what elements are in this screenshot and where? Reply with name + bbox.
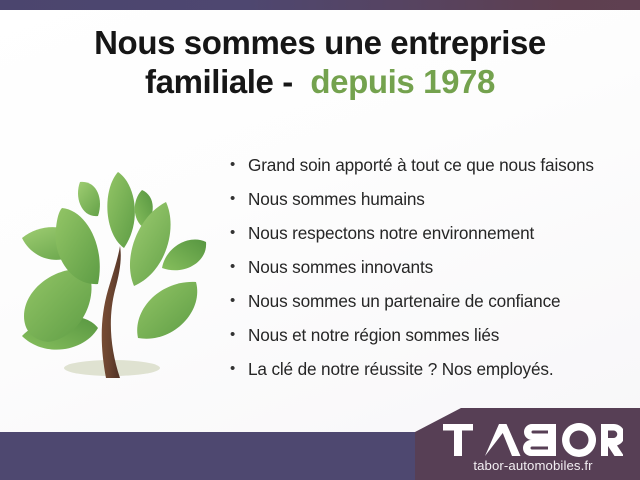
leaf-center-top [107,172,135,248]
list-item: •Nous sommes humains [228,182,628,216]
list-item-label: Nous et notre région sommes liés [248,325,499,345]
leaf-right-mid [162,240,206,271]
leaf-right-low [137,282,197,339]
list-item: •Grand soin apporté à tout ce que nous f… [228,148,628,182]
page-title: Nous sommes une entreprise familiale - d… [0,24,640,102]
list-item-label: Grand soin apporté à tout ce que nous fa… [248,155,594,175]
list-item-label: Nous sommes un partenaire de confiance [248,291,560,311]
list-item: •Nous et notre région sommes liés [228,318,628,352]
list-item-label: Nous sommes humains [248,189,425,209]
bullet-icon: • [230,318,235,352]
slide-canvas: Nous sommes une entreprise familiale - d… [0,0,640,480]
brand-logo-panel: tabor-automobiles.fr [415,408,640,480]
list-item: •Nous respectons notre environnement [228,216,628,250]
leaf-upper-left-small [78,182,100,216]
bullet-icon: • [230,216,235,250]
list-item-label: La clé de notre réussite ? Nos employés. [248,359,553,379]
tree-trunk [102,246,121,378]
bullet-icon: • [230,352,235,386]
headline-line-2: familiale - depuis 1978 [0,63,640,102]
headline-line-1: Nous sommes une entreprise [0,24,640,63]
list-item: •Nous sommes innovants [228,250,628,284]
bullet-icon: • [230,148,235,182]
tree-illustration [14,150,214,385]
list-item-label: Nous sommes innovants [248,257,433,277]
list-item: •La clé de notre réussite ? Nos employés… [228,352,628,386]
tabor-wordmark-icon [443,423,623,457]
bullet-icon: • [230,284,235,318]
brand-logo: tabor-automobiles.fr [440,423,626,473]
headline-accent-since-year: depuis 1978 [310,63,495,100]
headline-line-2-plain: familiale - [145,63,310,100]
top-accent-bar [0,0,640,10]
brand-website: tabor-automobiles.fr [440,458,626,473]
value-proposition-list: •Grand soin apporté à tout ce que nous f… [228,148,628,386]
bullet-icon: • [230,250,235,284]
list-item-label: Nous respectons notre environnement [248,223,534,243]
bullet-icon: • [230,182,235,216]
list-item: •Nous sommes un partenaire de confiance [228,284,628,318]
